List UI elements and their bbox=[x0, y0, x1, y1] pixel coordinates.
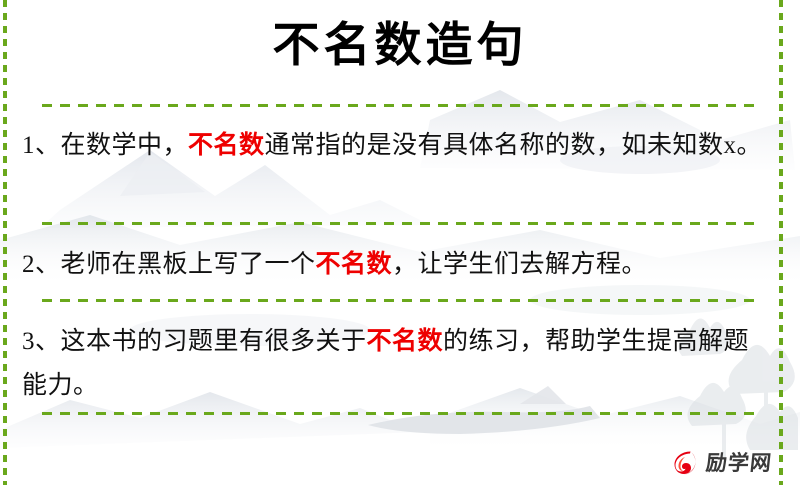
divider-rule-bottom bbox=[42, 412, 758, 415]
sentence-after-1: 通常指的是没有具体名称的数，如未知数x。 bbox=[265, 132, 763, 159]
sentence-after-2: ，让学生们去解方程。 bbox=[392, 251, 647, 278]
keyword-highlight-3: 不名数 bbox=[367, 328, 444, 355]
divider-rule-top bbox=[42, 104, 758, 107]
sentence-index-3: 3、 bbox=[22, 328, 61, 355]
sentence-before-1: 在数学中， bbox=[61, 132, 189, 159]
document-page: 不名数造句 1、在数学中，不名数通常指的是没有具体名称的数，如未知数x。 2、老… bbox=[0, 0, 800, 485]
page-title: 不名数造句 bbox=[0, 14, 800, 78]
site-logo[interactable]: 励学网 bbox=[668, 446, 788, 480]
sentence-index-2: 2、 bbox=[22, 251, 61, 278]
divider-rule-second bbox=[42, 222, 758, 225]
sentence-index-1: 1、 bbox=[22, 132, 61, 159]
red-swirl-icon bbox=[668, 447, 700, 479]
keyword-highlight-2: 不名数 bbox=[316, 251, 393, 278]
sentence-before-2: 老师在黑板上写了一个 bbox=[61, 251, 316, 278]
divider-rule-third bbox=[42, 299, 758, 302]
sentence-item-2: 2、老师在黑板上写了一个不名数，让学生们去解方程。 bbox=[22, 243, 774, 287]
logo-text: 励学网 bbox=[705, 451, 774, 475]
sentence-item-3: 3、这本书的习题里有很多关于不名数的练习，帮助学生提高解题能力。 bbox=[22, 320, 774, 408]
sentence-before-3: 这本书的习题里有很多关于 bbox=[61, 328, 367, 355]
keyword-highlight-1: 不名数 bbox=[188, 132, 265, 159]
sentence-item-1: 1、在数学中，不名数通常指的是没有具体名称的数，如未知数x。 bbox=[22, 124, 774, 168]
